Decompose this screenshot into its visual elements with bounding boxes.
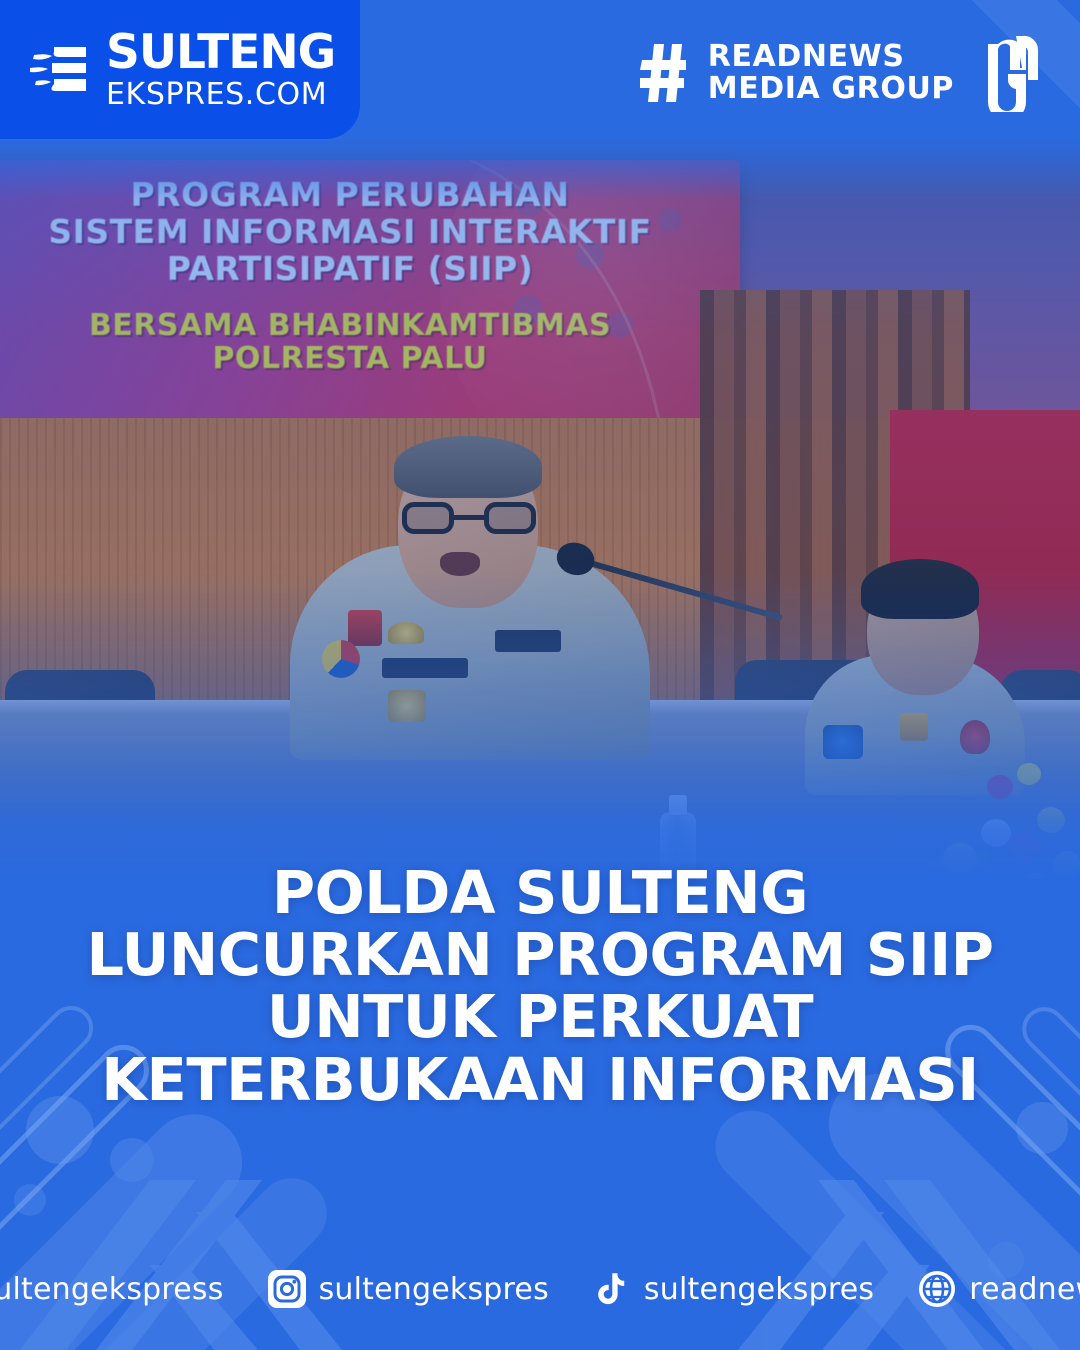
- social-footer: sultengekspress sultengekspres sultengek…: [0, 1270, 1080, 1308]
- social-item-instagram[interactable]: sultengekspres: [268, 1270, 549, 1308]
- globe-icon: [918, 1270, 956, 1308]
- social-handle-instagram: sultengekspres: [319, 1272, 549, 1307]
- hash-icon: [640, 44, 686, 102]
- brand-name-secondary: EKSPRES.COM: [106, 80, 335, 110]
- headline: POLDA SULTENG LUNCURKAN PROGRAM SIIP UNT…: [0, 862, 1080, 1111]
- instagram-icon: [268, 1270, 306, 1308]
- sulteng-speed-s-icon: [30, 39, 92, 101]
- tiktok-icon: [593, 1270, 631, 1308]
- headline-line-3: UNTUK PERKUAT: [40, 986, 1040, 1048]
- brand-name-primary: SULTENG: [106, 29, 335, 76]
- headline-line-1: POLDA SULTENG: [40, 862, 1040, 924]
- photo-top-fade: [0, 140, 1080, 200]
- social-handle-website: readnews.id: [969, 1272, 1080, 1307]
- social-handle-tiktok: sultengekspres: [644, 1272, 874, 1307]
- readnews-line-2: MEDIA GROUP: [708, 73, 954, 105]
- photo-blue-overlay: [0, 140, 1080, 880]
- social-media-news-card: PROGRAM PERUBAHAN SISTEM INFORMASI INTER…: [0, 0, 1080, 1350]
- social-item-tiktok[interactable]: sultengekspres: [593, 1270, 874, 1308]
- brand-badge[interactable]: SULTENG EKSPRES.COM: [0, 0, 360, 139]
- news-photo: PROGRAM PERUBAHAN SISTEM INFORMASI INTER…: [0, 140, 1080, 880]
- social-handle-facebook: sultengekspress: [0, 1272, 224, 1307]
- readnews-line-1: READNEWS: [708, 41, 954, 73]
- readnews-media-group[interactable]: READNEWS MEDIA GROUP: [640, 34, 1044, 112]
- headline-line-2: LUNCURKAN PROGRAM SIIP: [40, 924, 1040, 986]
- headline-line-4: KETERBUKAAN INFORMASI: [40, 1049, 1040, 1111]
- social-item-website[interactable]: readnews.id: [918, 1270, 1080, 1308]
- social-item-facebook[interactable]: sultengekspress: [0, 1270, 224, 1308]
- rg-monogram-icon: [982, 34, 1044, 112]
